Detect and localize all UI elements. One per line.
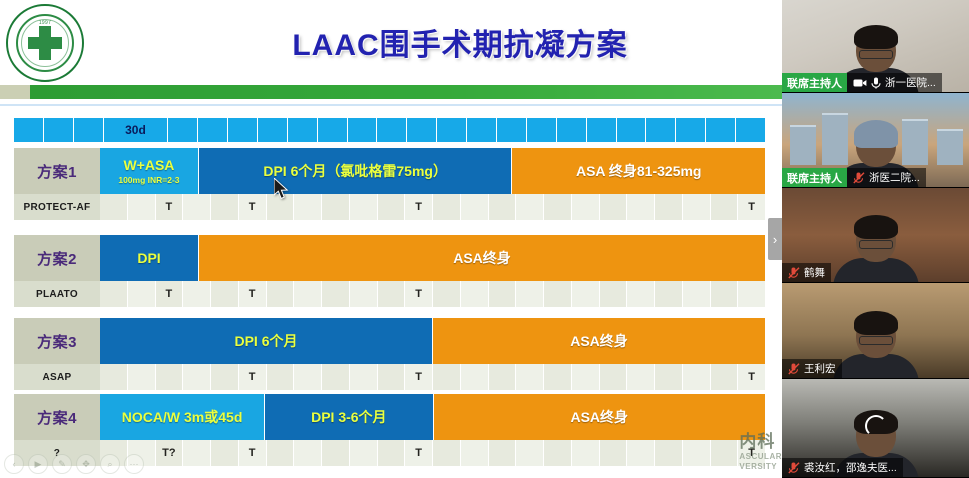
- microphone-muted-icon: [788, 462, 800, 474]
- segment-secondary-text: 100mg INR=2-3: [118, 175, 179, 185]
- follow-up-cell: [627, 281, 655, 307]
- participant-name-chip: 鹤舞: [782, 263, 831, 282]
- follow-up-cell: [183, 364, 211, 390]
- follow-up-cell: T: [156, 194, 184, 220]
- follow-up-cell: [100, 194, 128, 220]
- follow-up-cell: [183, 194, 211, 220]
- follow-up-cell: [322, 194, 350, 220]
- ruler-cell: [527, 118, 557, 142]
- follow-up-cell: [516, 440, 544, 466]
- follow-up-cell: [738, 281, 765, 307]
- follow-up-cell: [461, 440, 489, 466]
- timeline-ruler: 30d: [14, 118, 765, 142]
- participant-name-bar: 联席主持人浙医二院...: [782, 168, 932, 187]
- follow-up-cell: [544, 440, 572, 466]
- band-underline: [0, 104, 782, 106]
- background-building: [937, 129, 963, 165]
- follow-up-cell: [489, 364, 517, 390]
- collapse-video-strip-button[interactable]: ›: [768, 218, 782, 260]
- follow-up-cell: T: [738, 194, 765, 220]
- laser-pointer-icon: ✥: [82, 459, 90, 470]
- follow-up-cell: T: [405, 364, 433, 390]
- follow-up-cell: [322, 440, 350, 466]
- follow-up-cell: [683, 364, 711, 390]
- more-options-button[interactable]: ···: [124, 454, 144, 474]
- follow-up-cell: T: [738, 364, 765, 390]
- previous-button[interactable]: ‹: [4, 454, 24, 474]
- more-options-icon: ···: [130, 459, 139, 469]
- follow-up-cell: [572, 194, 600, 220]
- annotate-pen-button[interactable]: ✎: [52, 454, 72, 474]
- ruler-cell: [258, 118, 288, 142]
- treatment-segment: DPI: [100, 235, 199, 281]
- follow-up-cell: [433, 440, 461, 466]
- microphone-icon: [871, 77, 881, 89]
- follow-up-cell: [128, 281, 156, 307]
- ruler-cell: [318, 118, 348, 142]
- participant-video-tile[interactable]: 裘汝红，邵逸夫医...: [782, 379, 969, 478]
- segment-primary-text: ASA终身: [453, 250, 511, 266]
- follow-up-cell: [600, 440, 628, 466]
- participant-name-bar: 联席主持人浙一医院...: [782, 73, 948, 92]
- scheme-row: 方案2DPIASA终身PLAATOTTT: [14, 235, 765, 307]
- follow-up-cell: [627, 440, 655, 466]
- segment-primary-text: ASA终身: [570, 333, 628, 349]
- shared-slide: 1997 LAAC围手术期抗凝方案 30d 方案1W+ASA100mg INR=…: [0, 0, 782, 478]
- participant-name-chip: 浙医二院...: [847, 168, 926, 187]
- follow-up-cell: [544, 194, 572, 220]
- scheme-bar-row: 方案2DPIASA终身: [14, 235, 765, 281]
- follow-up-cell: [461, 364, 489, 390]
- follow-up-cell: [683, 281, 711, 307]
- band-tab: [0, 85, 32, 99]
- follow-up-cell: [156, 364, 184, 390]
- follow-up-cell: [350, 364, 378, 390]
- follow-up-cell: [378, 194, 406, 220]
- follow-up-cell: [461, 281, 489, 307]
- participant-name-chip: 裘汝红，邵逸夫医...: [782, 458, 903, 477]
- segment-primary-text: DPI: [137, 250, 160, 266]
- trial-name: ASAP: [14, 364, 100, 390]
- treatment-segment: ASA终身: [434, 394, 766, 440]
- treatment-segment: DPI 6个月（氯吡格雷75mg）: [199, 148, 513, 194]
- follow-up-cell: [128, 364, 156, 390]
- zoom-button[interactable]: ⌕: [100, 454, 120, 474]
- follow-up-cell: [572, 364, 600, 390]
- scheme-row: 方案3DPI 6个月ASA终身ASAPTTT: [14, 318, 765, 390]
- microphone-muted-icon: [788, 267, 800, 279]
- follow-up-cell: T: [156, 281, 184, 307]
- page-title: LAAC围手术期抗凝方案: [250, 20, 670, 64]
- participant-name-bar: 裘汝红，邵逸夫医...: [782, 458, 909, 477]
- follow-up-cell: T: [239, 440, 267, 466]
- scheme-label: 方案2: [14, 235, 100, 281]
- follow-up-cell: [350, 281, 378, 307]
- ruler-cell: [14, 118, 44, 142]
- ruler-cell: [617, 118, 647, 142]
- ruler-cell: [736, 118, 765, 142]
- follow-up-cell: [211, 440, 239, 466]
- treatment-segment: ASA终身: [433, 318, 765, 364]
- follow-up-cell: [183, 440, 211, 466]
- follow-up-cell: [294, 281, 322, 307]
- ruler-cell: [706, 118, 736, 142]
- ruler-cell: [168, 118, 198, 142]
- segment-primary-text: ASA终身: [570, 409, 628, 425]
- follow-up-cell: [711, 281, 739, 307]
- ruler-cell: [587, 118, 617, 142]
- presentation-toolbar[interactable]: ‹▶✎✥⌕···: [4, 454, 144, 474]
- follow-up-cell: [489, 440, 517, 466]
- follow-up-cell: [655, 194, 683, 220]
- follow-up-cell: [100, 281, 128, 307]
- follow-up-cell: [433, 281, 461, 307]
- trial-name: PROTECT-AF: [14, 194, 100, 220]
- segment-primary-text: DPI 6个月: [234, 333, 297, 349]
- ruler-cell: [437, 118, 467, 142]
- segment-primary-text: DPI 6个月（氯吡格雷75mg）: [263, 163, 447, 179]
- ruler-cell: [557, 118, 587, 142]
- microphone-muted-icon: [788, 363, 800, 375]
- follow-up-cell: [516, 194, 544, 220]
- ruler-cell: [74, 118, 104, 142]
- zoom-icon: ⌕: [107, 459, 112, 470]
- follow-up-cell: [211, 194, 239, 220]
- follow-up-cell: [128, 194, 156, 220]
- follow-up-cell: [572, 440, 600, 466]
- ruler-cell: [377, 118, 407, 142]
- treatment-segment: ASA 终身81-325mg: [512, 148, 765, 194]
- follow-up-cell: [294, 440, 322, 466]
- participant-name-text: 浙医二院...: [869, 170, 920, 185]
- play-icon: ▶: [35, 459, 42, 470]
- ruler-cell: [288, 118, 318, 142]
- follow-up-cell: [100, 364, 128, 390]
- follow-up-cell: [627, 194, 655, 220]
- scheme-bar-row: 方案4NOCA/W 3m或45dDPI 3-6个月ASA终身: [14, 394, 765, 440]
- segment-primary-text: NOCA/W 3m或45d: [122, 409, 243, 425]
- follow-up-cell: [294, 194, 322, 220]
- ruler-cell: [198, 118, 228, 142]
- chevron-right-icon: ›: [773, 233, 777, 246]
- follow-up-cell: [433, 364, 461, 390]
- follow-up-cell: [516, 364, 544, 390]
- screen-share-meeting-view: 1997 LAAC围手术期抗凝方案 30d 方案1W+ASA100mg INR=…: [0, 0, 969, 478]
- follow-up-cell: [655, 281, 683, 307]
- follow-up-cell: T: [239, 194, 267, 220]
- trial-tick-row: ASAPTTT: [14, 364, 765, 390]
- ruler-cell: [44, 118, 74, 142]
- follow-up-cell: [600, 281, 628, 307]
- follow-up-cell: [600, 364, 628, 390]
- follow-up-cell: [322, 281, 350, 307]
- trial-tick-row: PLAATOTTT: [14, 281, 765, 307]
- follow-up-cell: [267, 364, 295, 390]
- follow-up-cell: [211, 281, 239, 307]
- play-button[interactable]: ▶: [28, 454, 48, 474]
- follow-up-cell: [655, 440, 683, 466]
- participant-name-text: 浙一医院...: [885, 75, 936, 90]
- follow-up-cell: [711, 440, 739, 466]
- ruler-cell: 30d: [104, 118, 169, 142]
- follow-up-cell: [627, 364, 655, 390]
- treatment-segment: ASA终身: [199, 235, 765, 281]
- scheme-label: 方案3: [14, 318, 100, 364]
- green-divider-band: [30, 85, 782, 99]
- ruler-cell: [676, 118, 706, 142]
- ruler-cell: [348, 118, 378, 142]
- ruler-cell: [497, 118, 527, 142]
- follow-up-cell: [211, 364, 239, 390]
- follow-up-cell: [711, 194, 739, 220]
- follow-up-cell: [600, 194, 628, 220]
- follow-up-cell: [683, 194, 711, 220]
- follow-up-cell: [378, 364, 406, 390]
- trial-name: PLAATO: [14, 281, 100, 307]
- follow-up-cell: [544, 364, 572, 390]
- scheme-row: 方案1W+ASA100mg INR=2-3DPI 6个月（氯吡格雷75mg）AS…: [14, 148, 765, 220]
- scheme-label: 方案1: [14, 148, 100, 194]
- treatment-segment: DPI 6个月: [100, 318, 433, 364]
- follow-up-cell: T?: [156, 440, 184, 466]
- follow-up-cell: T: [405, 440, 433, 466]
- follow-up-cell: T: [405, 281, 433, 307]
- video-camera-icon: [853, 78, 867, 88]
- participant-video-tile[interactable]: 联席主持人浙医二院...: [782, 93, 969, 188]
- segment-primary-text: W+ASA: [123, 157, 174, 173]
- microphone-muted-icon: [853, 172, 865, 184]
- scheme-bar-row: 方案1W+ASA100mg INR=2-3DPI 6个月（氯吡格雷75mg）AS…: [14, 148, 765, 194]
- follow-up-cell: [461, 194, 489, 220]
- follow-up-cell: [655, 364, 683, 390]
- follow-up-cell: T: [738, 440, 765, 466]
- ruler-cell: [467, 118, 497, 142]
- segment-primary-text: DPI 3-6个月: [311, 409, 386, 425]
- follow-up-cell: [350, 440, 378, 466]
- follow-up-cell: [516, 281, 544, 307]
- participant-name-bar: 王利宏: [782, 359, 848, 378]
- ruler-cell: [407, 118, 437, 142]
- participant-video-tile[interactable]: 鹤舞: [782, 188, 969, 283]
- follow-up-cell: [378, 440, 406, 466]
- participant-video-tile[interactable]: 王利宏: [782, 283, 969, 379]
- participant-name-bar: 鹤舞: [782, 263, 837, 282]
- participant-video-tile[interactable]: 联席主持人浙一医院...: [782, 0, 969, 93]
- previous-icon: ‹: [13, 459, 16, 469]
- follow-up-cell: [378, 281, 406, 307]
- follow-up-cell: [267, 281, 295, 307]
- co-host-badge: 联席主持人: [782, 73, 847, 92]
- ruler-cell: [228, 118, 258, 142]
- loading-spinner-icon: [865, 415, 887, 437]
- segment-primary-text: ASA 终身81-325mg: [576, 163, 702, 179]
- follow-up-cell: T: [239, 364, 267, 390]
- follow-up-cell: [294, 364, 322, 390]
- treatment-segment: W+ASA100mg INR=2-3: [100, 148, 199, 194]
- follow-up-cell: [183, 281, 211, 307]
- follow-up-cell: [683, 440, 711, 466]
- follow-up-cell: T: [239, 281, 267, 307]
- scheme-label: 方案4: [14, 394, 100, 440]
- annotate-pen-icon: ✎: [58, 459, 66, 470]
- participant-name-text: 裘汝红，邵逸夫医...: [804, 460, 897, 475]
- follow-up-cell: [350, 194, 378, 220]
- follow-up-cell: [544, 281, 572, 307]
- participant-avatar: [833, 218, 919, 283]
- hospital-logo-icon: 1997: [6, 4, 84, 82]
- follow-up-cell: [322, 364, 350, 390]
- ruler-label-30d: 30d: [125, 123, 146, 137]
- treatment-segment: DPI 3-6个月: [265, 394, 433, 440]
- participant-name-chip: 浙一医院...: [847, 73, 942, 92]
- follow-up-cell: [489, 281, 517, 307]
- follow-up-cell: [711, 364, 739, 390]
- participant-name-text: 王利宏: [804, 361, 836, 376]
- background-building: [790, 125, 816, 165]
- follow-up-cell: [489, 194, 517, 220]
- participant-name-text: 鹤舞: [804, 265, 825, 280]
- participant-video-strip: 联席主持人浙一医院...联席主持人浙医二院...鹤舞王利宏裘汝红，邵逸夫医...: [782, 0, 969, 478]
- follow-up-cell: [267, 194, 295, 220]
- treatment-segment: NOCA/W 3m或45d: [100, 394, 265, 440]
- ruler-cell: [646, 118, 676, 142]
- follow-up-cell: [572, 281, 600, 307]
- follow-up-cell: [267, 440, 295, 466]
- participant-name-chip: 王利宏: [782, 359, 842, 378]
- co-host-badge: 联席主持人: [782, 168, 847, 187]
- follow-up-cell: T: [405, 194, 433, 220]
- follow-up-cell: [433, 194, 461, 220]
- trial-tick-row: PROTECT-AFTTTT: [14, 194, 765, 220]
- laser-pointer-button[interactable]: ✥: [76, 454, 96, 474]
- scheme-bar-row: 方案3DPI 6个月ASA终身: [14, 318, 765, 364]
